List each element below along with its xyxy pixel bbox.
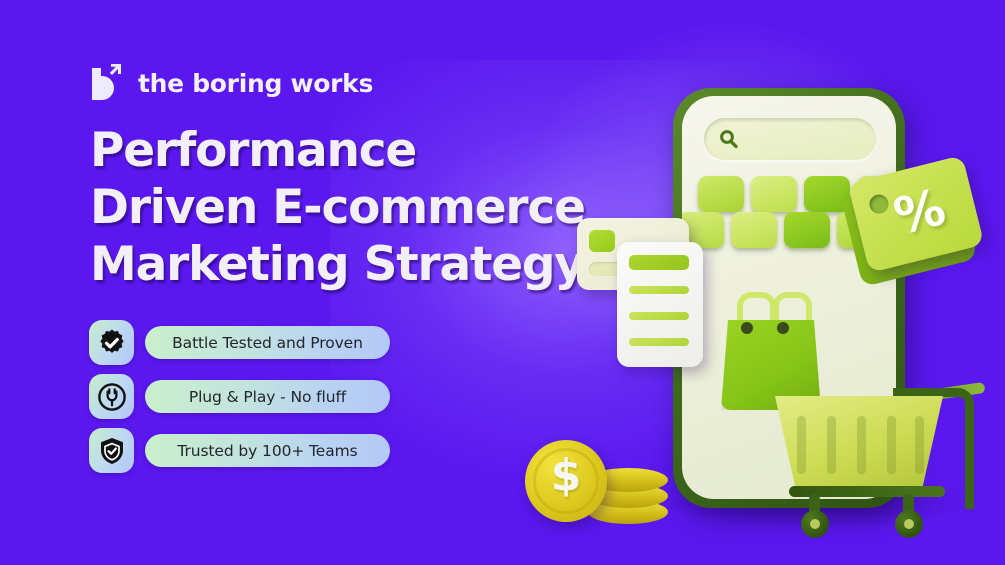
product-tile xyxy=(784,212,830,248)
checklist-row-bar xyxy=(629,338,689,346)
cart-slot xyxy=(857,416,866,474)
boring-works-b-arrow-mark-icon xyxy=(90,62,126,104)
feature-label: Battle Tested and Proven xyxy=(172,334,363,352)
feature-list: Battle Tested and Proven Plug & Play - N… xyxy=(89,320,390,473)
brand-logo[interactable]: the boring works xyxy=(90,62,373,104)
feature-item-trusted-teams[interactable]: Trusted by 100+ Teams xyxy=(89,428,390,473)
cart-wheel-right xyxy=(895,510,923,538)
3d-ecommerce-shopping-scene: % $ xyxy=(505,0,1005,565)
brand-name: the boring works xyxy=(138,69,373,98)
bag-stud-right xyxy=(777,322,789,334)
bag-stud-left xyxy=(741,322,753,334)
dollar-symbol: $ xyxy=(525,454,607,498)
feature-pill-plug-and-play[interactable]: Plug & Play - No fluff xyxy=(145,380,390,413)
feature-label: Plug & Play - No fluff xyxy=(189,388,346,406)
product-tile xyxy=(698,176,744,212)
cart-slot xyxy=(887,416,896,474)
feature-pill-trusted-teams[interactable]: Trusted by 100+ Teams xyxy=(145,434,390,467)
phone-search-bar xyxy=(704,118,876,160)
feature-pill-battle-tested[interactable]: Battle Tested and Proven xyxy=(145,326,390,359)
promo-banner: the boring works Performance Driven E-co… xyxy=(0,0,1005,565)
shopping-cart xyxy=(767,386,987,541)
checklist-card xyxy=(617,242,703,367)
card-chip xyxy=(589,230,615,252)
checklist-row-bar xyxy=(629,312,689,320)
feature-item-battle-tested[interactable]: Battle Tested and Proven xyxy=(89,320,390,365)
cart-slot xyxy=(797,416,806,474)
shield-check-icon xyxy=(89,428,134,473)
checklist-heading-bar xyxy=(629,255,689,270)
feature-label: Trusted by 100+ Teams xyxy=(177,442,357,460)
product-tile xyxy=(731,212,777,248)
cart-basket xyxy=(775,396,943,486)
product-tile xyxy=(751,176,797,212)
magnifier-icon xyxy=(719,129,739,149)
cart-wheel-left xyxy=(801,510,829,538)
cart-slot xyxy=(915,416,924,474)
feature-item-plug-and-play[interactable]: Plug & Play - No fluff xyxy=(89,374,390,419)
checklist-row-bar xyxy=(629,286,689,294)
dollar-coin: $ xyxy=(525,440,607,522)
verified-badge-check-icon xyxy=(89,320,134,365)
cart-slot xyxy=(827,416,836,474)
power-plug-icon xyxy=(89,374,134,419)
